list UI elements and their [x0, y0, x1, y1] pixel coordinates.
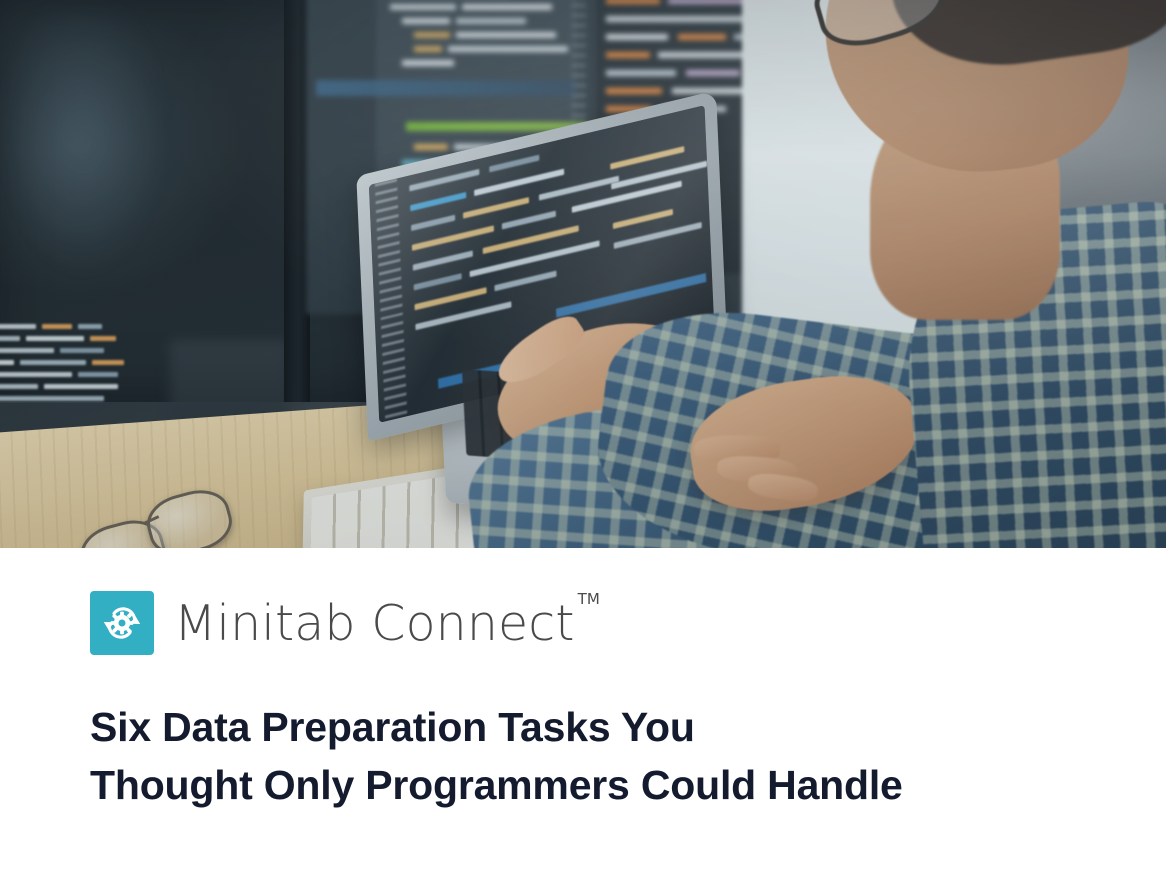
headline-line-1: Six Data Preparation Tasks You — [90, 698, 1050, 756]
left-monitor-code — [0, 320, 162, 406]
brand-name: Minitab ConnectTM — [174, 599, 599, 648]
trademark-symbol: TM — [578, 590, 600, 608]
person-programmer — [792, 0, 1166, 548]
page-title: Six Data Preparation Tasks You Thought O… — [90, 698, 1050, 814]
ebook-cover-page: Minitab ConnectTM Six Data Preparation T… — [0, 0, 1166, 873]
brand-name-text: Minitab Connect — [174, 595, 575, 652]
hero-photo-composite — [0, 0, 1166, 548]
headline-line-2: Thought Only Programmers Could Handle — [90, 756, 1050, 814]
editor-tab-bar — [316, 80, 576, 96]
hero-image — [0, 0, 1166, 548]
monitor-reflection — [0, 12, 190, 342]
cover-content: Minitab ConnectTM Six Data Preparation T… — [0, 548, 1166, 873]
minitab-connect-logo-icon — [90, 591, 154, 655]
brand-lockup: Minitab ConnectTM — [90, 591, 599, 655]
